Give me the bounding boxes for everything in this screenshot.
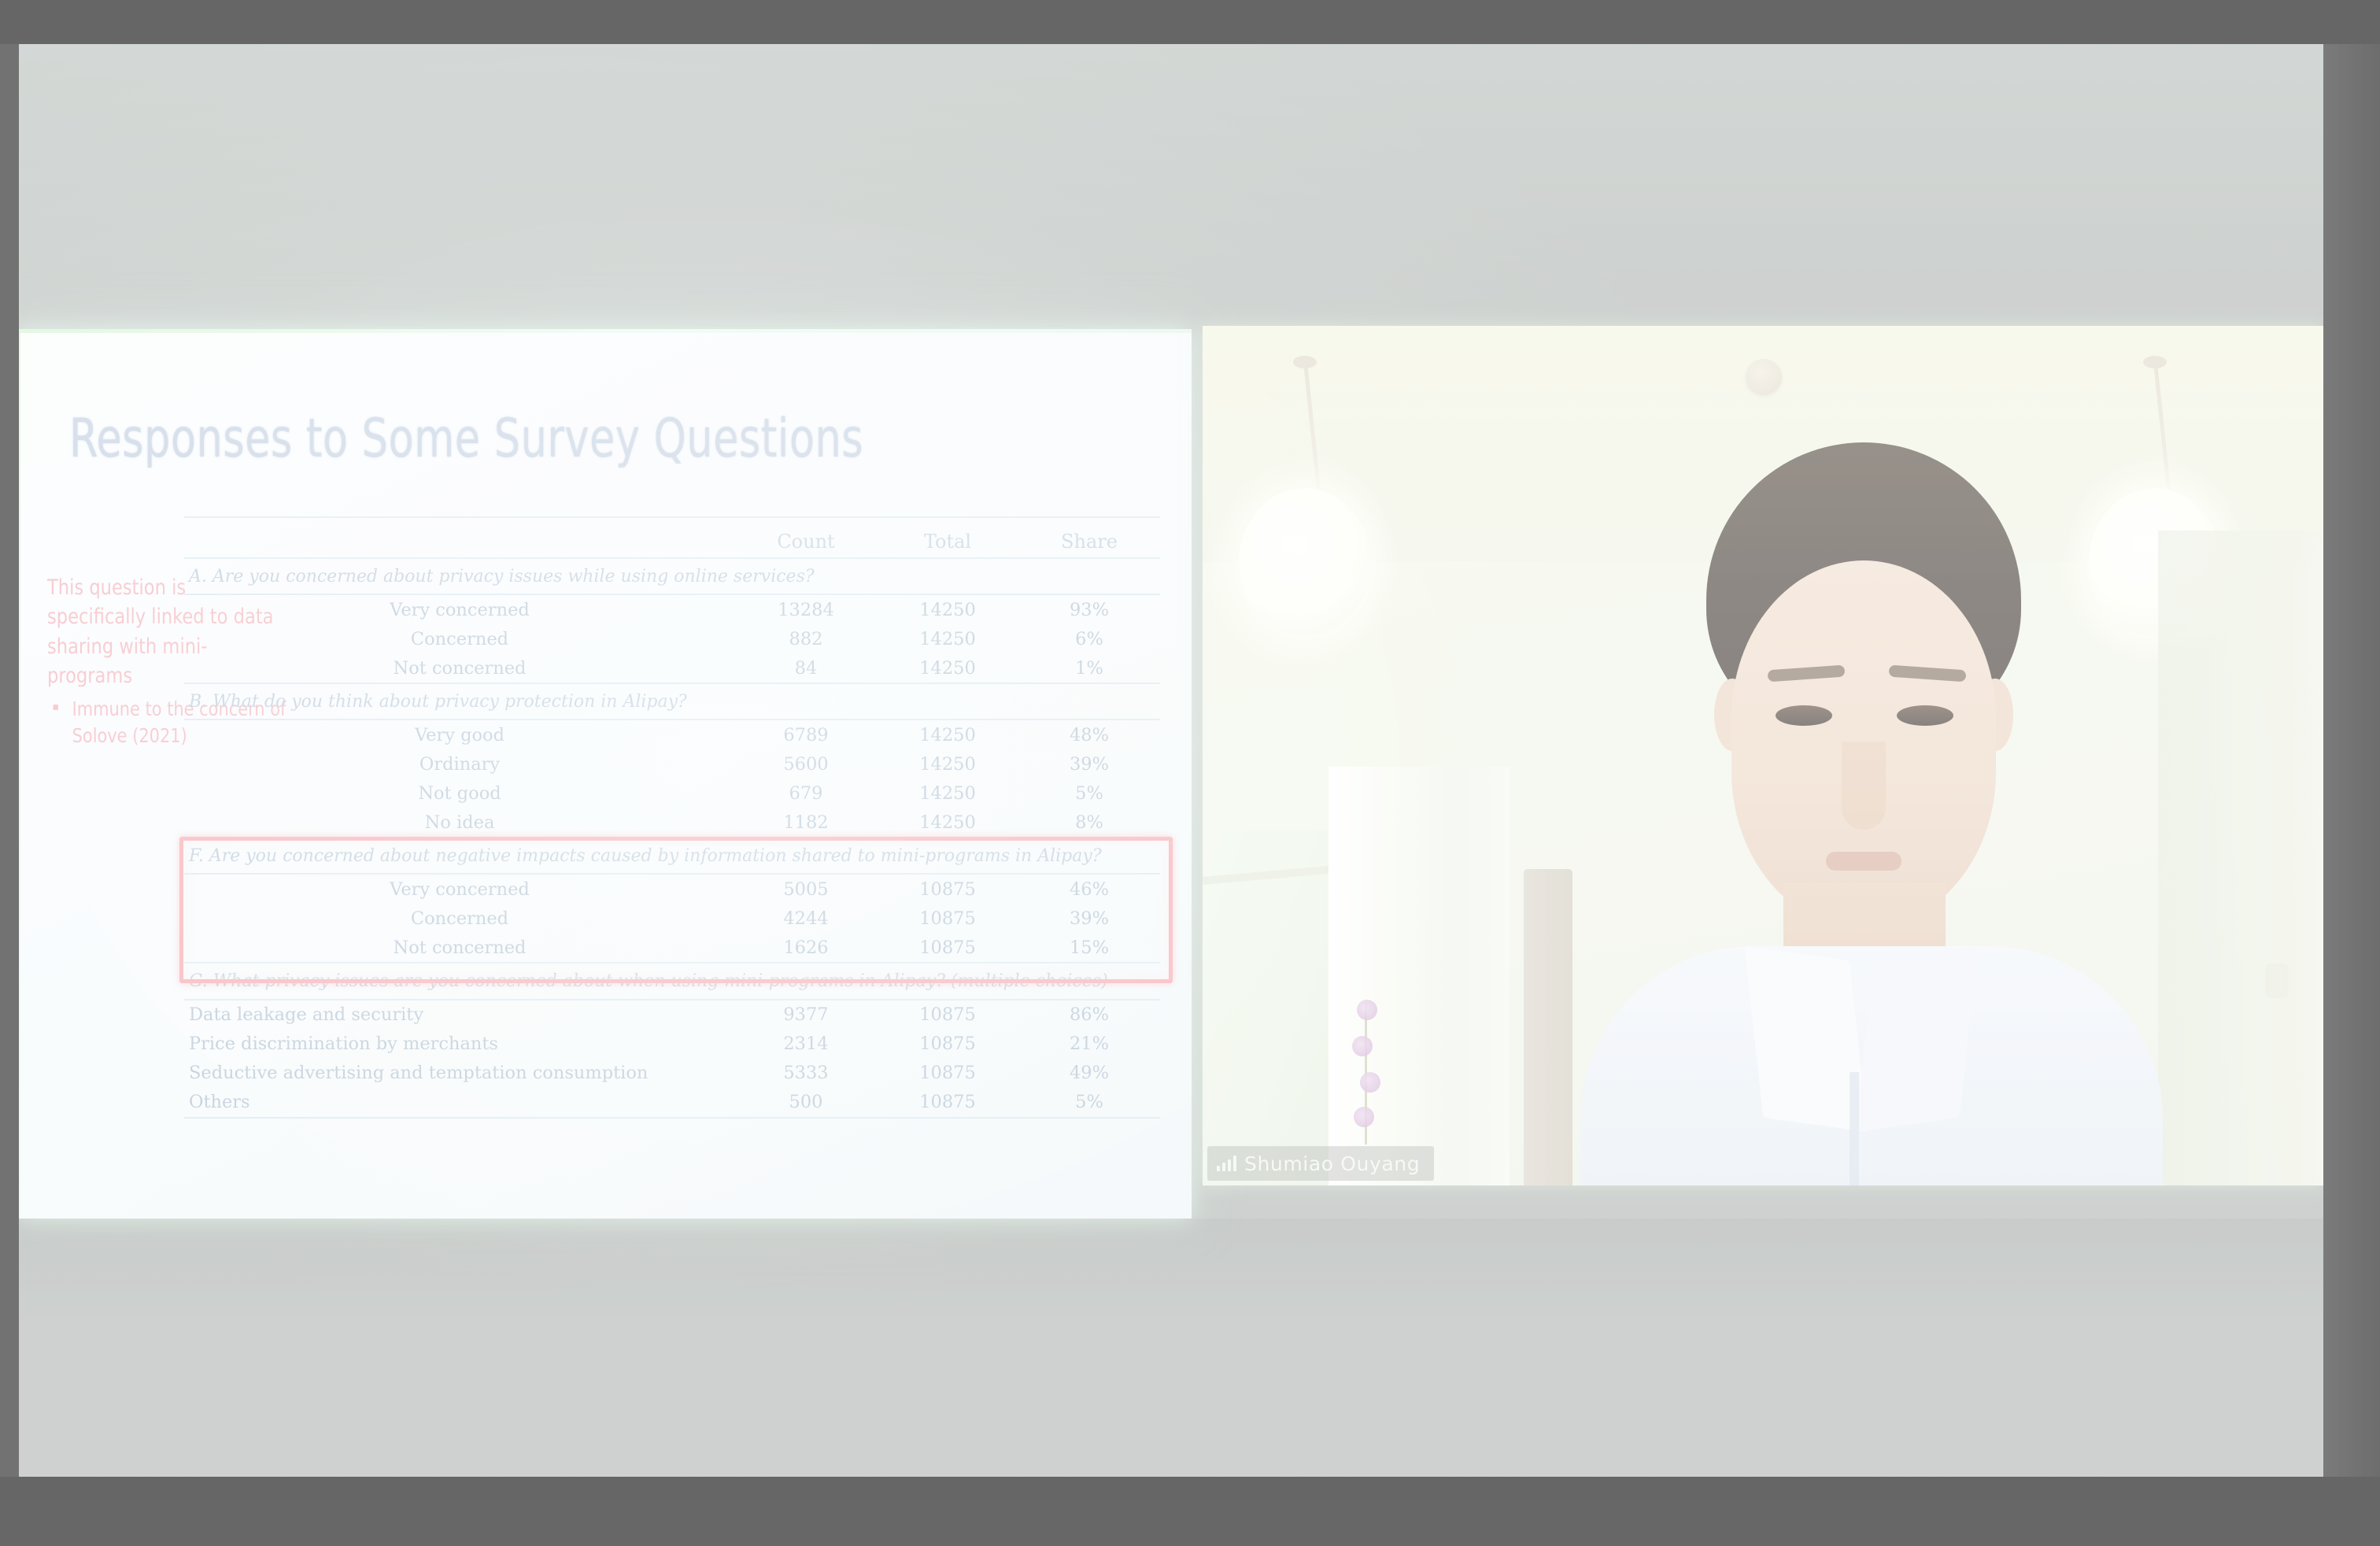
chair-back xyxy=(1524,869,1572,1185)
video-conference-tile[interactable]: Shumiao Ouyang xyxy=(1203,326,2323,1185)
table-row: Very good 6789 14250 48% xyxy=(184,719,1160,749)
wall-left-edge xyxy=(0,44,19,1477)
eye-right xyxy=(1897,705,1953,726)
wall-lower-shadow xyxy=(19,1219,2323,1477)
table-section-question: B. What do you think about privacy prote… xyxy=(184,683,1160,719)
table-row: No idea 1182 14250 8% xyxy=(184,808,1160,838)
shirt-placket xyxy=(1850,1072,1859,1185)
table-section-question: G. What privacy issues are you concerned… xyxy=(184,963,1160,999)
participant-name-label: Shumiao Ouyang xyxy=(1244,1152,1420,1175)
wall-upper-band xyxy=(19,44,2323,280)
table-row: Not concerned 1626 10875 15% xyxy=(184,933,1160,963)
table-header-total: Total xyxy=(877,517,1018,558)
orchid-plant xyxy=(1343,956,1390,1145)
table-row: Others 500 10875 5% xyxy=(184,1088,1160,1118)
wall-right-edge xyxy=(2323,44,2380,1477)
participant-name-bar: Shumiao Ouyang xyxy=(1207,1146,1434,1181)
participant-person xyxy=(1588,442,2139,1185)
orchid-flower xyxy=(1357,1000,1377,1020)
table-section-question: A. Are you concerned about privacy issue… xyxy=(184,558,1160,594)
bullet-point-icon xyxy=(53,705,58,710)
orchid-flower xyxy=(1352,1036,1373,1056)
orchid-flower xyxy=(1354,1107,1374,1127)
table-row: Very concerned 5005 10875 46% xyxy=(184,874,1160,904)
table-row: Seductive advertising and temptation con… xyxy=(184,1059,1160,1088)
table-row: Concerned 882 14250 6% xyxy=(184,624,1160,653)
light-switch xyxy=(2267,965,2287,997)
table-header-count: Count xyxy=(735,517,877,558)
letterbox-bar-bottom xyxy=(0,1477,2380,1546)
letterbox-bar-top xyxy=(0,0,2380,44)
table-row: Not good 679 14250 5% xyxy=(184,779,1160,808)
table-row: Price discrimination by merchants 2314 1… xyxy=(184,1030,1160,1059)
projection-room-scene: Responses to Some Survey Questions This … xyxy=(0,0,2380,1546)
smoke-detector-icon xyxy=(1746,359,1782,395)
projected-slide: Responses to Some Survey Questions This … xyxy=(17,329,1192,1219)
eye-left xyxy=(1776,705,1832,726)
slide-title: Responses to Some Survey Questions xyxy=(69,408,863,470)
table-row: Not concerned 84 14250 1% xyxy=(184,653,1160,683)
table-row: Data leakage and security 9377 10875 86% xyxy=(184,1000,1160,1030)
orchid-flower xyxy=(1360,1072,1380,1093)
signal-bars-icon xyxy=(1217,1156,1236,1171)
table-row: Concerned 4244 10875 39% xyxy=(184,904,1160,933)
table-row: Ordinary 5600 14250 39% xyxy=(184,749,1160,779)
shirt-collar-right xyxy=(1855,946,1979,1132)
table-row: Very concerned 13284 14250 93% xyxy=(184,594,1160,624)
table-header-blank xyxy=(184,517,735,558)
lamp-globe xyxy=(1239,488,1371,636)
nose xyxy=(1842,742,1886,830)
table-header-share: Share xyxy=(1018,517,1160,558)
mouth xyxy=(1826,852,1901,871)
table-section-question-highlighted: F. Are you concerned about negative impa… xyxy=(184,838,1160,874)
survey-results-table-wrapper: Count Total Share A. Are you concerned a… xyxy=(184,516,1160,1119)
table-header-row: Count Total Share xyxy=(184,517,1160,558)
right-wall-panel xyxy=(2158,531,2323,1185)
survey-results-table: Count Total Share A. Are you concerned a… xyxy=(184,516,1160,1119)
